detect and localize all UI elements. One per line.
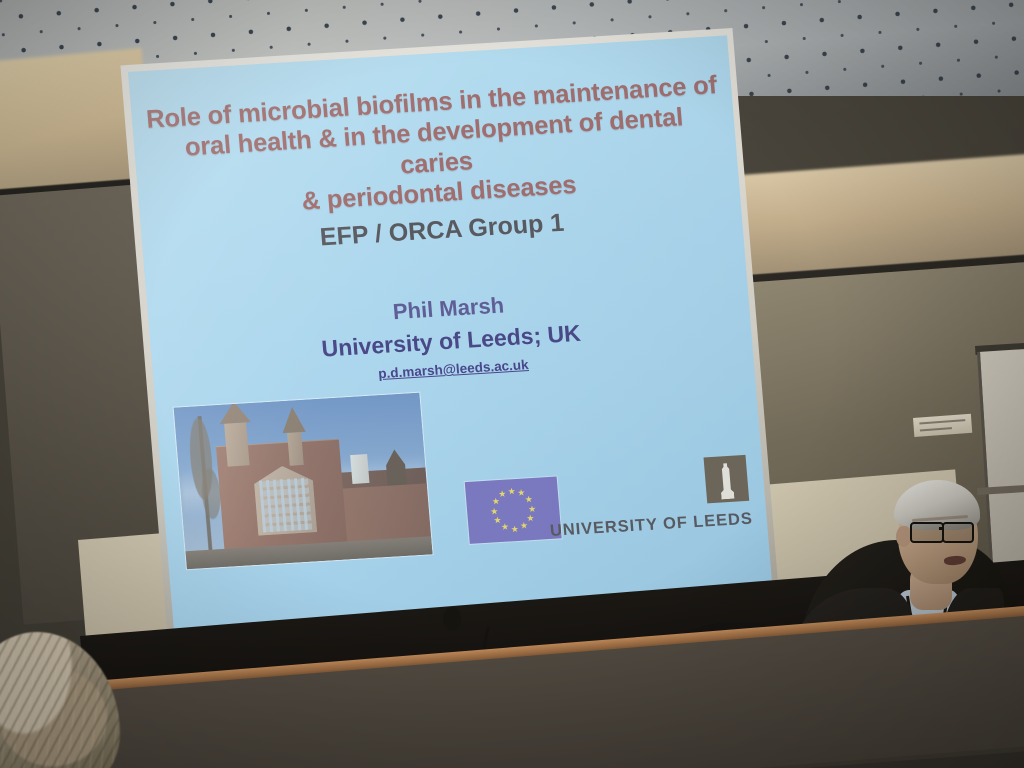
- wall-sign-text-line: [920, 427, 952, 431]
- university-building-photo: [174, 393, 433, 569]
- parkinson-tower-glyph: [719, 463, 735, 500]
- european-union-flag: ★★★★★★★★★★★★: [465, 476, 562, 543]
- eu-flag-star-icon: ★: [507, 487, 517, 497]
- leeds-tower-mark-icon: [704, 455, 750, 503]
- leeds-wordmark: UNIVERSITY OF LEEDS: [549, 510, 753, 541]
- slide-author-block: Phil Marsh University of Leeds; UK p.d.m…: [162, 275, 740, 394]
- speaker-glasses-left-lens: [910, 522, 944, 543]
- eu-flag-star-icon: ★: [510, 524, 520, 534]
- microphone-head: [443, 607, 461, 631]
- eu-flag-star-icon: ★: [498, 490, 508, 500]
- lecture-theatre-photo: Role of microbial biofilms in the mainte…: [0, 0, 1024, 768]
- projector-color-wash: [174, 393, 433, 569]
- projection-screen: Role of microbial biofilms in the mainte…: [128, 35, 773, 630]
- presentation-slide: Role of microbial biofilms in the mainte…: [128, 35, 773, 630]
- eu-flag-star-icon: ★: [489, 507, 499, 517]
- slide-title-block: Role of microbial biofilms in the mainte…: [145, 70, 729, 263]
- eu-flag-star-icon: ★: [519, 521, 529, 531]
- speaker-glasses-right-lens: [942, 522, 974, 543]
- eu-flag-star-icon: ★: [493, 516, 503, 526]
- university-of-leeds-logo: UNIVERSITY OF LEEDS: [590, 455, 758, 541]
- speaker-glasses-bridge: [939, 527, 944, 530]
- wall-sign-text-line: [919, 419, 965, 424]
- speaker-ear: [896, 526, 911, 547]
